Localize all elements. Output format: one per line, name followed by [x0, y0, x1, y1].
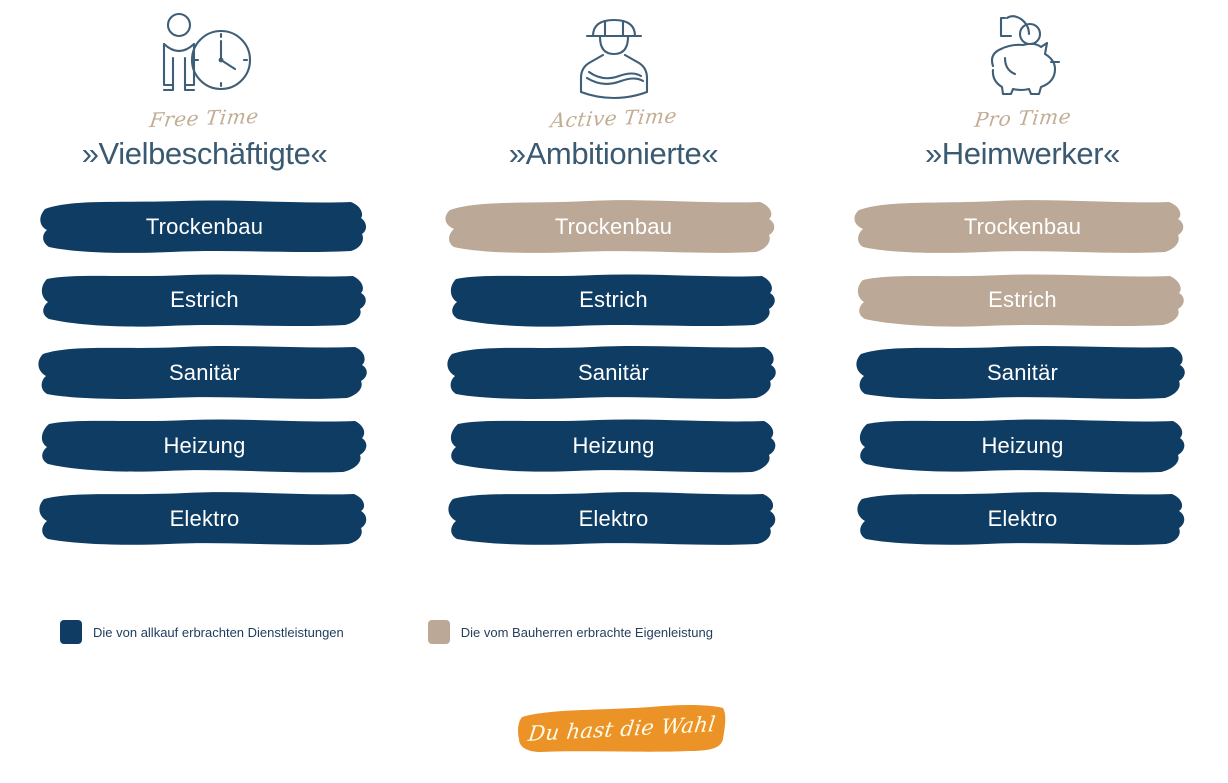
service-bar[interactable]: Elektro [31, 488, 379, 550]
legend: Die von allkauf erbrachten Dienstleistun… [60, 620, 713, 644]
piggy-bank-icon [818, 0, 1227, 104]
service-bar-label: Trockenbau [964, 214, 1081, 240]
service-bar[interactable]: Elektro [849, 488, 1197, 550]
legend-label: Die von allkauf erbrachten Dienstleistun… [93, 625, 344, 640]
service-bar[interactable]: Heizung [31, 415, 379, 477]
column-tagline: Active Time [549, 104, 678, 133]
legend-item-allkauf: Die von allkauf erbrachten Dienstleistun… [60, 620, 344, 644]
bar-list: Trockenbau Estrich Sanitär [0, 196, 409, 561]
legend-label: Die vom Bauherren erbrachte Eigenleistun… [461, 625, 713, 640]
package-columns: Free Time »Vielbeschäftigte« Trockenbau … [0, 0, 1228, 600]
bar-list: Trockenbau Estrich Sanitär [409, 196, 818, 561]
service-bar-label: Trockenbau [146, 214, 263, 240]
service-bar-label: Estrich [579, 287, 648, 313]
legend-item-bauherr: Die vom Bauherren erbrachte Eigenleistun… [428, 620, 713, 644]
package-column-ambitionierte: Active Time »Ambitionierte« Trockenbau E… [409, 0, 818, 561]
service-bar[interactable]: Heizung [440, 415, 788, 477]
service-bar-label: Estrich [988, 287, 1057, 313]
package-column-vielbeschaeftigte: Free Time »Vielbeschäftigte« Trockenbau … [0, 0, 409, 561]
service-bar-label: Elektro [988, 506, 1058, 532]
service-bar-label: Heizung [163, 433, 245, 459]
service-bar[interactable]: Trockenbau [440, 196, 788, 258]
infographic-root: Free Time »Vielbeschäftigte« Trockenbau … [0, 0, 1228, 783]
service-bar-label: Sanitär [169, 360, 240, 386]
service-bar[interactable]: Estrich [31, 269, 379, 331]
bar-list: Trockenbau Estrich Sanitär [818, 196, 1227, 561]
service-bar-label: Elektro [579, 506, 649, 532]
service-bar[interactable]: Elektro [440, 488, 788, 550]
service-bar-label: Elektro [170, 506, 240, 532]
service-bar[interactable]: Estrich [440, 269, 788, 331]
service-bar-label: Sanitär [987, 360, 1058, 386]
service-bar[interactable]: Trockenbau [849, 196, 1197, 258]
column-headline: »Heimwerker« [925, 136, 1120, 172]
service-bar[interactable]: Heizung [849, 415, 1197, 477]
package-column-heimwerker: Pro Time »Heimwerker« Trockenbau Estrich [818, 0, 1227, 561]
service-bar[interactable]: Sanitär [849, 342, 1197, 404]
construction-worker-icon [409, 0, 818, 104]
column-headline: »Vielbeschäftigte« [82, 136, 328, 172]
service-bar-label: Trockenbau [555, 214, 672, 240]
column-tagline: Pro Time [973, 104, 1072, 132]
service-bar-label: Heizung [572, 433, 654, 459]
du-hast-die-wahl-badge[interactable]: Du hast die Wahl [513, 701, 731, 755]
column-tagline: Free Time [149, 104, 261, 132]
person-with-clock-icon [0, 0, 409, 104]
legend-swatch-navy [60, 620, 82, 644]
service-bar[interactable]: Estrich [849, 269, 1197, 331]
service-bar[interactable]: Trockenbau [31, 196, 379, 258]
service-bar[interactable]: Sanitär [440, 342, 788, 404]
column-headline: »Ambitionierte« [509, 136, 718, 172]
service-bar-label: Estrich [170, 287, 239, 313]
service-bar-label: Sanitär [578, 360, 649, 386]
legend-swatch-tan [428, 620, 450, 644]
service-bar[interactable]: Sanitär [31, 342, 379, 404]
service-bar-label: Heizung [981, 433, 1063, 459]
